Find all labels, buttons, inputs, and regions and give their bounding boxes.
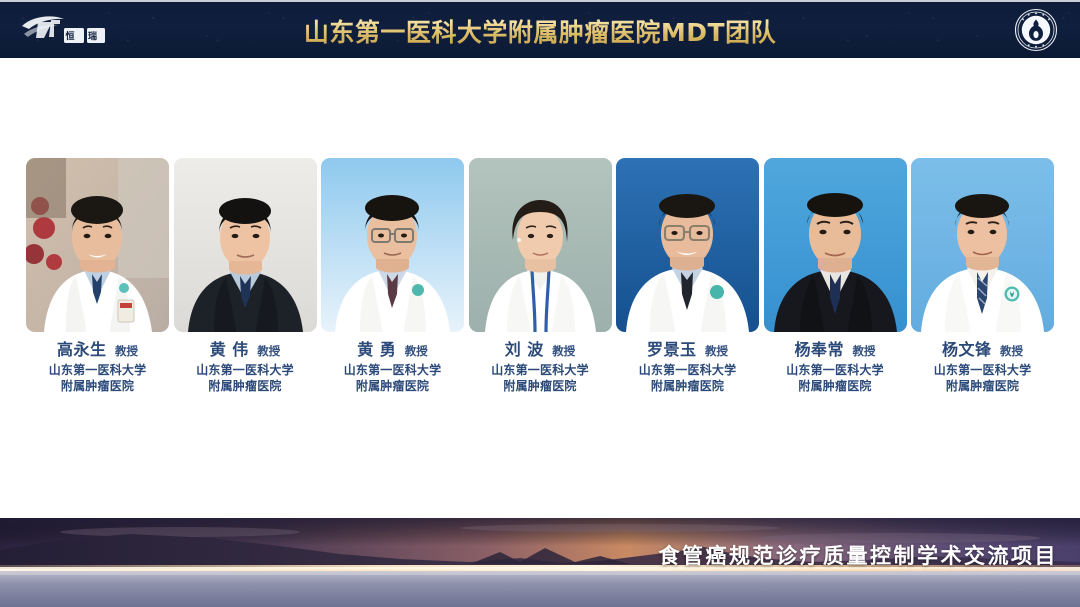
hospital-emblem-icon xyxy=(1014,8,1058,52)
doctor-portrait-liu-bo xyxy=(469,158,612,332)
affiliation-line-2: 附属肿瘤医院 xyxy=(49,379,147,395)
doctor-name: 黄 伟 xyxy=(210,340,249,359)
doctor-name: 杨奉常 xyxy=(795,340,845,359)
doctor-title: 教授 xyxy=(115,344,138,358)
affiliation-line-2: 附属肿瘤医院 xyxy=(639,379,737,395)
doctor-portrait-luo-jingyu xyxy=(616,158,759,332)
doctor-portrait-yang-wenfeng xyxy=(911,158,1054,332)
doctor-portrait-huang-wei xyxy=(174,158,317,332)
affiliation-line-2: 附属肿瘤医院 xyxy=(344,379,442,395)
affiliation-line-1: 山东第一医科大学 xyxy=(196,363,294,379)
doctor-card[interactable]: 杨文锋 教授 山东第一医科大学 附属肿瘤医院 xyxy=(911,158,1054,395)
doctor-portrait-gao-yongsheng xyxy=(26,158,169,332)
slide-header: 恒 瑞 山东第一医科大学附属肿瘤医院MDT团队 xyxy=(0,0,1080,59)
doctor-title: 教授 xyxy=(405,344,428,358)
doctor-grid: 高永生 教授 山东第一医科大学 附属肿瘤医院 xyxy=(26,158,1054,395)
doctor-affiliation: 山东第一医科大学 附属肿瘤医院 xyxy=(786,363,884,395)
doctor-name-line: 杨奉常 教授 xyxy=(795,342,876,359)
doctor-title: 教授 xyxy=(852,344,875,358)
doctor-name-line: 杨文锋 教授 xyxy=(942,342,1023,359)
doctor-affiliation: 山东第一医科大学 附属肿瘤医院 xyxy=(49,363,147,395)
slide-body: 高永生 教授 山东第一医科大学 附属肿瘤医院 xyxy=(0,58,1080,517)
affiliation-line-2: 附属肿瘤医院 xyxy=(196,379,294,395)
doctor-affiliation: 山东第一医科大学 附属肿瘤医院 xyxy=(344,363,442,395)
doctor-card[interactable]: 黄 伟 教授 山东第一医科大学 附属肿瘤医院 xyxy=(174,158,317,395)
doctor-portrait-huang-yong xyxy=(321,158,464,332)
doctor-affiliation: 山东第一医科大学 附属肿瘤医院 xyxy=(639,363,737,395)
sunset-landscape-banner: 食管癌规范诊疗质量控制学术交流项目 xyxy=(0,518,1080,607)
doctor-name-line: 刘 波 教授 xyxy=(505,342,576,359)
affiliation-line-2: 附属肿瘤医院 xyxy=(934,379,1032,395)
doctor-card[interactable]: 高永生 教授 山东第一医科大学 附属肿瘤医院 xyxy=(26,158,169,395)
doctor-card[interactable]: 刘 波 教授 山东第一医科大学 附属肿瘤医院 xyxy=(469,158,612,395)
doctor-name-line: 罗景玉 教授 xyxy=(647,342,728,359)
doctor-portrait-yang-fengchang xyxy=(764,158,907,332)
doctor-affiliation: 山东第一医科大学 附属肿瘤医院 xyxy=(491,363,589,395)
header-top-rule xyxy=(0,0,1080,2)
page-title: 山东第一医科大学附属肿瘤医院MDT团队 xyxy=(0,13,1080,49)
program-title: 食管癌规范诊疗质量控制学术交流项目 xyxy=(659,540,1059,570)
affiliation-line-1: 山东第一医科大学 xyxy=(491,363,589,379)
doctor-name-line: 高永生 教授 xyxy=(57,342,138,359)
affiliation-line-1: 山东第一医科大学 xyxy=(49,363,147,379)
affiliation-line-1: 山东第一医科大学 xyxy=(786,363,884,379)
doctor-name: 罗景玉 xyxy=(647,340,697,359)
doctor-title: 教授 xyxy=(1000,344,1023,358)
slide-root: 恒 瑞 山东第一医科大学附属肿瘤医院MDT团队 xyxy=(0,0,1080,607)
doctor-name-line: 黄 勇 教授 xyxy=(357,342,428,359)
doctor-name: 杨文锋 xyxy=(942,340,992,359)
doctor-title: 教授 xyxy=(705,344,728,358)
doctor-affiliation: 山东第一医科大学 附属肿瘤医院 xyxy=(934,363,1032,395)
doctor-affiliation: 山东第一医科大学 附属肿瘤医院 xyxy=(196,363,294,395)
affiliation-line-1: 山东第一医科大学 xyxy=(639,363,737,379)
doctor-title: 教授 xyxy=(257,344,280,358)
doctor-name: 黄 勇 xyxy=(357,340,396,359)
affiliation-line-2: 附属肿瘤医院 xyxy=(491,379,589,395)
doctor-name: 刘 波 xyxy=(505,340,544,359)
affiliation-line-1: 山东第一医科大学 xyxy=(344,363,442,379)
doctor-title: 教授 xyxy=(552,344,575,358)
doctor-name-line: 黄 伟 教授 xyxy=(210,342,281,359)
doctor-card[interactable]: 杨奉常 教授 山东第一医科大学 附属肿瘤医院 xyxy=(764,158,907,395)
affiliation-line-1: 山东第一医科大学 xyxy=(934,363,1032,379)
affiliation-line-2: 附属肿瘤医院 xyxy=(786,379,884,395)
doctor-card[interactable]: 黄 勇 教授 山东第一医科大学 附属肿瘤医院 xyxy=(321,158,464,395)
doctor-name: 高永生 xyxy=(57,340,107,359)
doctor-card[interactable]: 罗景玉 教授 山东第一医科大学 附属肿瘤医院 xyxy=(616,158,759,395)
